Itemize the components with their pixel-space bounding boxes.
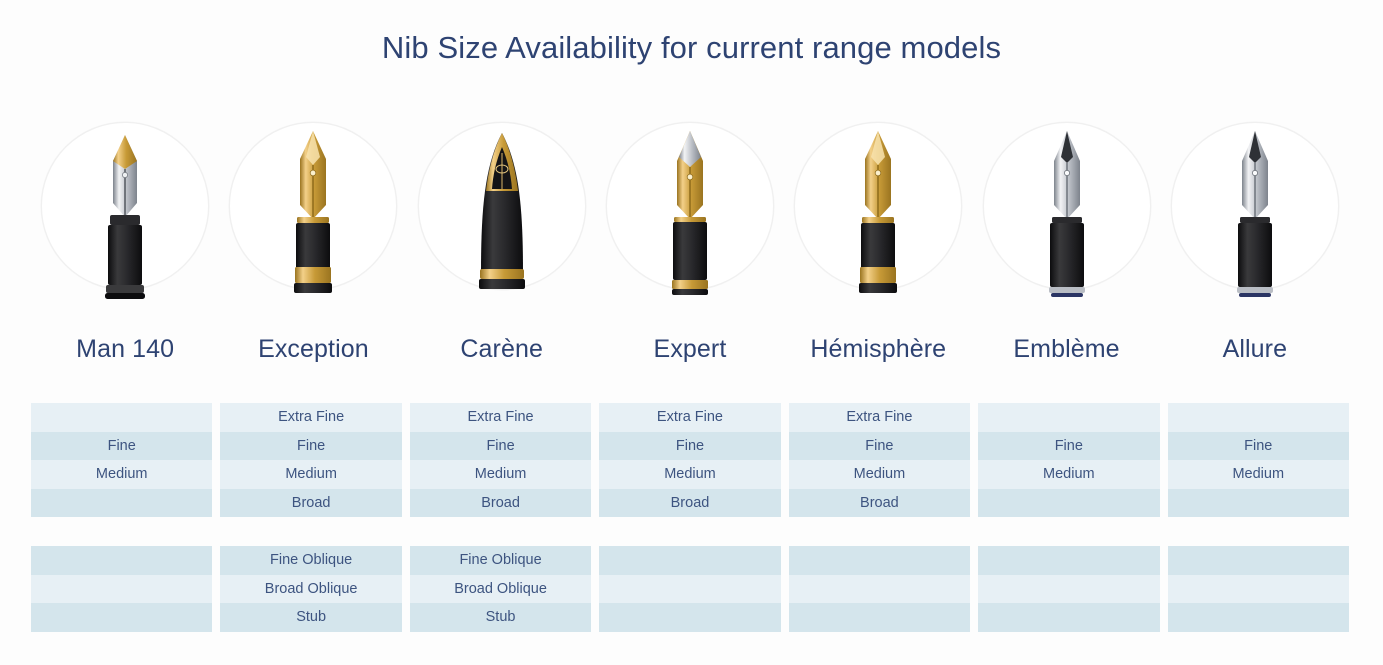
pen-image-cell (972, 112, 1160, 302)
nib-size-cell: Medium (220, 460, 401, 489)
nib-size-column (789, 546, 970, 632)
model-name: Carène (408, 328, 596, 374)
nib-size-cell-empty (789, 546, 970, 575)
nib-size-cell: Fine (978, 432, 1159, 461)
pen-image-cell (408, 112, 596, 302)
nib-size-cell: Extra Fine (410, 403, 591, 432)
nib-size-column: FineMedium (1168, 403, 1349, 517)
fountain-pen-nib-gold-icon (278, 117, 348, 297)
pen-image-cell (1161, 112, 1349, 302)
nib-size-cell-empty (599, 546, 780, 575)
nib-size-cell-empty (978, 603, 1159, 632)
fountain-pen-nib-gold-silver-tip-icon (655, 117, 725, 297)
pen-image-row (31, 112, 1349, 302)
nib-size-cell: Stub (410, 603, 591, 632)
nib-size-cell: Medium (1168, 460, 1349, 489)
fountain-pen-nib-steel-icon (1220, 117, 1290, 297)
nib-size-cell-empty (978, 546, 1159, 575)
pen-image-cell (784, 112, 972, 302)
nib-size-cell: Fine (789, 432, 970, 461)
nib-size-cell: Fine (31, 432, 212, 461)
nib-size-cell-empty (1168, 489, 1349, 518)
nib-size-cell: Fine (599, 432, 780, 461)
nib-size-cell-empty (978, 575, 1159, 604)
nib-size-cell: Extra Fine (789, 403, 970, 432)
nib-size-cell: Fine Oblique (410, 546, 591, 575)
fountain-pen-nib-gold-icon (843, 117, 913, 297)
nib-size-column: Extra FineFineMediumBroad (220, 403, 401, 517)
nib-size-cell: Fine Oblique (220, 546, 401, 575)
nib-size-cell-empty (31, 603, 212, 632)
nib-size-cell: Broad (789, 489, 970, 518)
nib-size-column: FineMedium (978, 403, 1159, 517)
nib-size-cell: Medium (789, 460, 970, 489)
nib-size-cell: Broad (599, 489, 780, 518)
nib-size-cell-empty (789, 603, 970, 632)
fountain-pen-nib-inlaid-gold-icon (467, 117, 537, 297)
nib-size-column: FineMedium (31, 403, 212, 517)
model-name: Hémisphère (784, 328, 972, 374)
nib-size-cell: Extra Fine (220, 403, 401, 432)
nib-size-cell: Medium (410, 460, 591, 489)
nib-size-cell-empty (978, 489, 1159, 518)
nib-size-column: Extra FineFineMediumBroad (599, 403, 780, 517)
nib-size-column: Fine ObliqueBroad ObliqueStub (220, 546, 401, 632)
nib-size-cell: Fine (220, 432, 401, 461)
page-title: Nib Size Availability for current range … (0, 26, 1383, 70)
nib-size-column: Extra FineFineMediumBroad (410, 403, 591, 517)
nib-size-cell: Broad (410, 489, 591, 518)
nib-size-cell: Extra Fine (599, 403, 780, 432)
nib-size-cell-empty (1168, 575, 1349, 604)
nib-size-cell: Medium (978, 460, 1159, 489)
nib-size-cell: Fine (410, 432, 591, 461)
nib-size-cell-empty (599, 575, 780, 604)
model-name-row: Man 140ExceptionCarèneExpertHémisphèreEm… (31, 328, 1349, 374)
model-name: Exception (219, 328, 407, 374)
fountain-pen-nib-steel-icon (1032, 117, 1102, 297)
nib-size-cell: Fine (1168, 432, 1349, 461)
nib-size-cell: Medium (599, 460, 780, 489)
nib-size-column (978, 546, 1159, 632)
nib-size-cell: Broad Oblique (410, 575, 591, 604)
pen-image-cell (31, 112, 219, 302)
nib-size-column (599, 546, 780, 632)
nib-size-column (31, 546, 212, 632)
nib-size-cell-empty (31, 575, 212, 604)
nib-size-cell-empty (1168, 546, 1349, 575)
nib-size-cell-empty (31, 546, 212, 575)
model-name: Allure (1161, 328, 1349, 374)
speciality-nib-size-table: Fine ObliqueBroad ObliqueStubFine Obliqu… (31, 546, 1349, 632)
pen-image-cell (596, 112, 784, 302)
nib-size-cell-empty (31, 489, 212, 518)
nib-size-cell: Broad (220, 489, 401, 518)
model-name: Man 140 (31, 328, 219, 374)
nib-size-cell-empty (599, 603, 780, 632)
standard-nib-size-table: FineMediumExtra FineFineMediumBroadExtra… (31, 403, 1349, 517)
nib-size-column (1168, 546, 1349, 632)
nib-size-cell-empty (789, 575, 970, 604)
nib-size-cell: Medium (31, 460, 212, 489)
model-name: Emblème (972, 328, 1160, 374)
nib-size-cell-empty (31, 403, 212, 432)
nib-size-cell: Broad Oblique (220, 575, 401, 604)
nib-size-cell-empty (978, 403, 1159, 432)
pen-image-cell (219, 112, 407, 302)
nib-size-column: Extra FineFineMediumBroad (789, 403, 970, 517)
nib-size-cell-empty (1168, 603, 1349, 632)
fountain-pen-nib-gold-rhodium-icon (90, 117, 160, 297)
nib-size-column: Fine ObliqueBroad ObliqueStub (410, 546, 591, 632)
nib-size-cell: Stub (220, 603, 401, 632)
nib-size-cell-empty (1168, 403, 1349, 432)
nib-size-availability-page: Nib Size Availability for current range … (0, 0, 1383, 665)
model-name: Expert (596, 328, 784, 374)
